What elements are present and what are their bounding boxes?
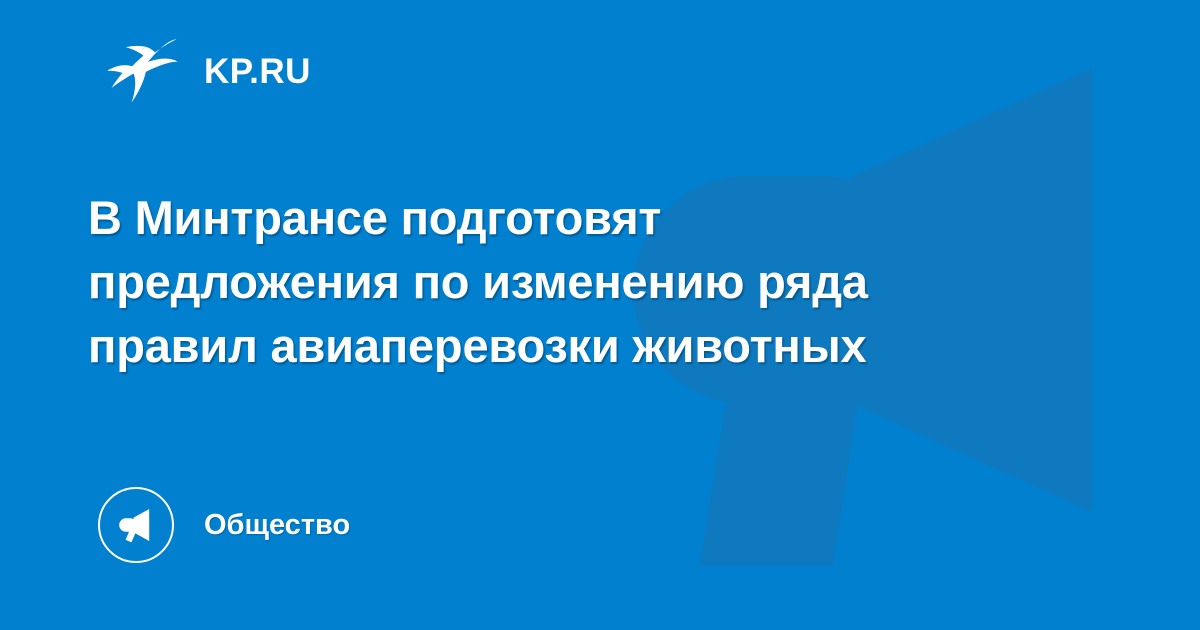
megaphone-icon (116, 505, 156, 545)
category-label: Общество (204, 511, 350, 540)
category-badge[interactable]: Общество (98, 487, 350, 563)
headline-line-1: В Минтрансе подготовят (88, 186, 1088, 250)
headline: В Минтрансе подготовят предложения по из… (88, 186, 1088, 378)
category-icon-circle (98, 487, 174, 563)
headline-line-2: предложения по изменению ряда (88, 250, 1088, 314)
site-logo[interactable]: KP.RU (104, 36, 311, 106)
swallow-bird-icon (104, 36, 180, 106)
headline-line-3: правил авиаперевозки животных (88, 314, 1088, 378)
social-share-card: KP.RU В Минтрансе подготовят предложения… (0, 0, 1200, 630)
logo-wordmark: KP.RU (204, 54, 311, 89)
